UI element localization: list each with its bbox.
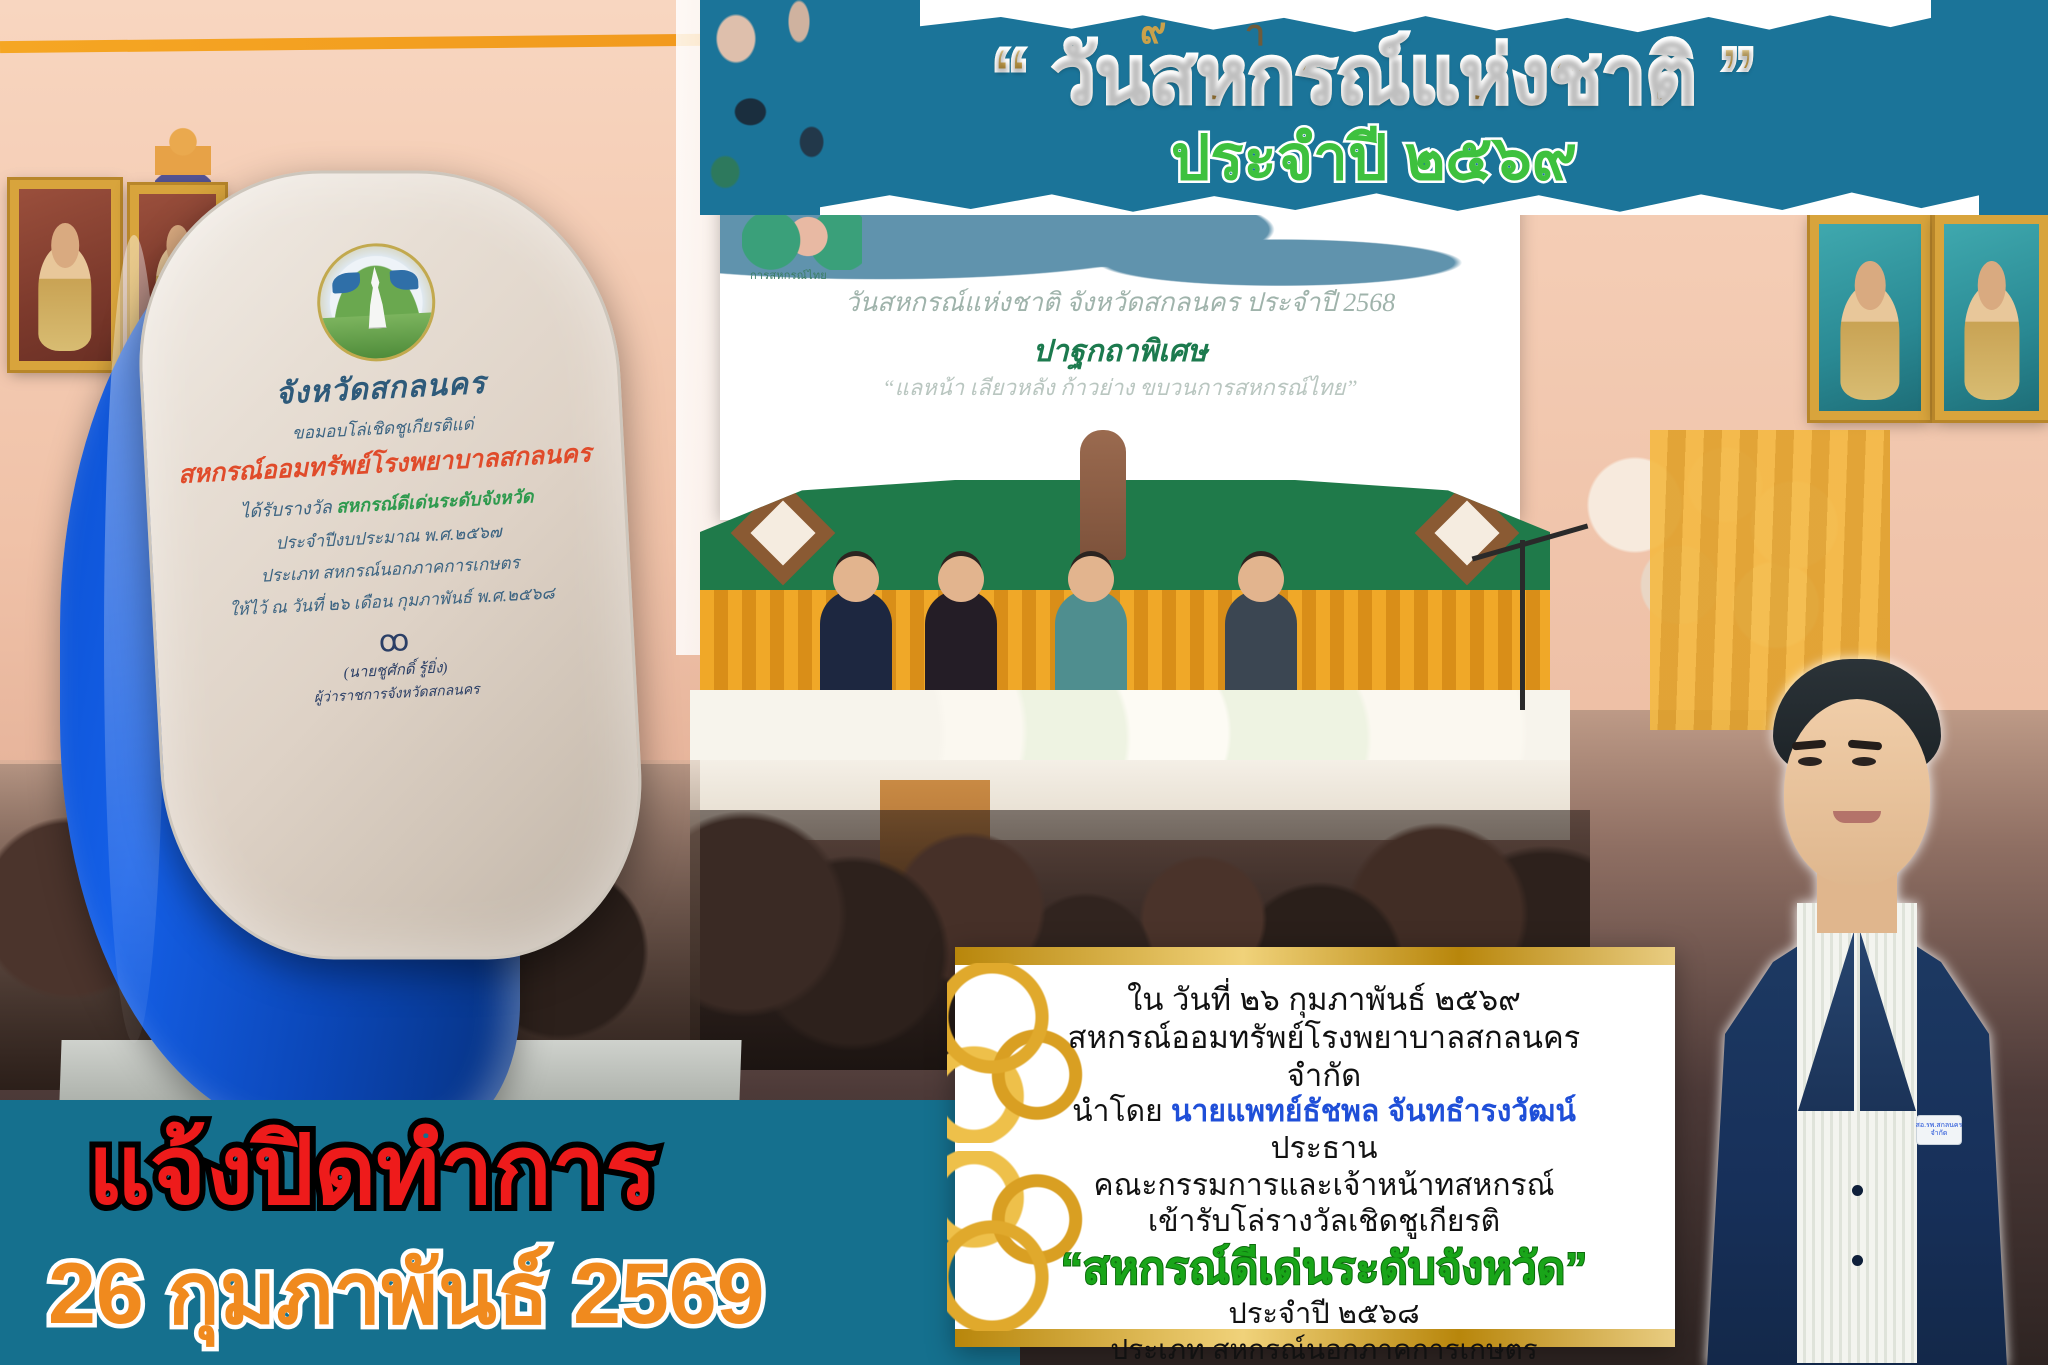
info-award-category: ประเภท สหกรณ์นอกภาคการเกษตร [1051, 1332, 1597, 1365]
backdrop-event-line: วันสหกรณ์แห่งชาติ จังหวัดสกลนคร ประจำปี … [720, 282, 1520, 323]
plaque-received-prefix: ได้รับรางวัล [240, 497, 337, 522]
portrait-mouth [1833, 811, 1881, 823]
portrait-head [51, 223, 79, 268]
portrait-head [1977, 261, 2006, 310]
royal-portrait-frame-3 [1810, 215, 1930, 420]
info-committee-line: คณะกรรมการและเจ้าหน้าทสหกรณ์ [1051, 1168, 1597, 1205]
info-leader-name: นายแพทย์ธัชพล จันทธำรงวัฒน์ [1171, 1095, 1576, 1128]
portrait-shirt [1797, 903, 1917, 1363]
portrait-eye-left [1798, 757, 1822, 766]
info-award-year: ประจำปี ๒๕๖๘ [1051, 1296, 1597, 1332]
poster-canvas: การสหกรณ์ไทย วันสหกรณ์แห่งชาติ จังหวัดสก… [0, 0, 2048, 1365]
president-portrait-cutout: สอ.รพ.สกลนคร จำกัด [1702, 645, 2012, 1365]
stage-diamond-ornament [750, 500, 815, 565]
portrait-face [1784, 699, 1930, 885]
stage-statue [1080, 430, 1126, 560]
portrait-suit-button [1852, 1185, 1863, 1196]
info-award-title: “สหกรณ์ดีเด่นระดับจังหวัด” [1051, 1243, 1597, 1296]
portrait-head [1855, 261, 1886, 310]
poster-subtitle-year: ประจำปี ๒๕๖๙ [700, 128, 2048, 190]
event-info-card: ใน วันที่ ๒๖ กุมภาพันธ์ ๒๕๖๙ สหกรณ์ออมทร… [955, 947, 1675, 1347]
royal-portrait-frame-1 [10, 180, 120, 370]
info-leader-suffix: ประธาน [1271, 1132, 1378, 1165]
info-date-line: ใน วันที่ ๒๖ กุมภาพันธ์ ๒๕๖๙ [1051, 981, 1597, 1019]
province-seal-icon [314, 240, 438, 364]
portrait-suit-button [1852, 1255, 1863, 1266]
info-receive-line: เข้ารับโล่รางวัลเชิดชูเกียรติ [1051, 1204, 1597, 1241]
backdrop-lecture-heading: ปาฐกถาพิเศษ [720, 328, 1520, 375]
closure-notice-heading: แจ้งปิดทำการ [88, 1123, 657, 1219]
info-cooperative-line: สหกรณ์ออมทรัพย์โรงพยาบาลสกลนคร จำกัด [1051, 1019, 1597, 1095]
royal-portrait-frame-4 [1935, 215, 2048, 420]
cooperative-logo-icon [742, 208, 862, 270]
microphone-stand [1520, 540, 1525, 710]
info-leader-line: นำโดย นายแพทย์ธัชพล จันทธำรงวัฒน์ ประธาน [1051, 1094, 1597, 1167]
portrait-eye-right [1852, 757, 1876, 766]
event-info-text: ใน วันที่ ๒๖ กุมภาพันธ์ ๒๕๖๙ สหกรณ์ออมทร… [1051, 981, 1597, 1317]
info-leader-prefix: นำโดย [1072, 1095, 1171, 1128]
header-banner: ๙ า “ วันสหกรณ์แห่งชาติ ” ประจำปี ๒๕๖๙ [700, 0, 2048, 215]
portrait-name-badge: สอ.รพ.สกลนคร จำกัด [1916, 1115, 1962, 1145]
award-plaque: จังหวัดสกลนคร ขอมอบโล่เชิดชูเกียรติแด่ ส… [129, 171, 651, 960]
plaque-received-award: สหกรณ์ดีเด่นระดับจังหวัด [336, 487, 534, 517]
backdrop-lecture-topic: “แลหน้า เลียวหลัง ก้าวย่าง ขบวนการสหกรณ์… [720, 370, 1520, 405]
poster-title: “ วันสหกรณ์แห่งชาติ ” [700, 36, 2048, 114]
closure-notice-date: 26 กุมภาพันธ์ 2569 [48, 1251, 764, 1337]
